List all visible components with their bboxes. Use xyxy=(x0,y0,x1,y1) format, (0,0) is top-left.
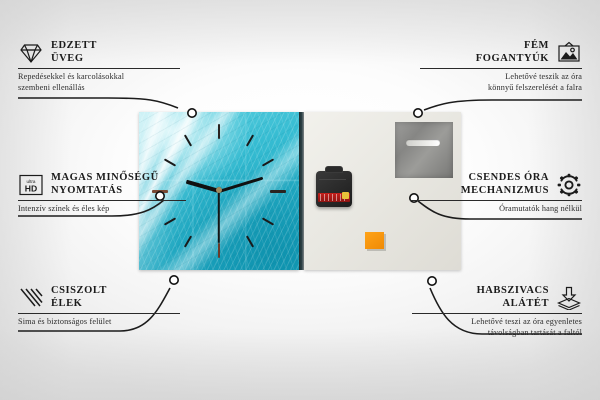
feature-magas-minosegu-nyomtatas[interactable]: ultra HD MAGAS MINŐSÉGŰNYOMTATÁS Intenzí… xyxy=(18,172,186,215)
feature-description: Óramutatók hang nélkül xyxy=(410,204,582,215)
clock-tick-3 xyxy=(270,190,286,193)
clock-center-cap xyxy=(216,187,222,193)
clock-second-hand xyxy=(218,191,220,243)
metal-hanger-plate xyxy=(395,122,453,178)
ultra-hd-icon: ultra HD xyxy=(18,173,44,197)
feature-description: Repedésekkel és karcolásokkalszembeni el… xyxy=(18,72,180,93)
foam-pad-icon xyxy=(556,286,582,310)
quartz-mechanism xyxy=(316,171,352,207)
feature-rule xyxy=(18,68,180,69)
feature-habszivacs-alatet[interactable]: HABSZIVACSALÁTÉT Lehetővé teszi az óra e… xyxy=(412,285,582,338)
feature-title: HABSZIVACSALÁTÉT xyxy=(477,285,549,310)
feature-description: Lehetővé teszik az órakönnyű felszerelés… xyxy=(420,72,582,93)
diamond-icon xyxy=(18,41,44,65)
wire-dot-bottom-left xyxy=(170,276,178,284)
feature-header: EDZETTÜVEG xyxy=(18,40,180,65)
feature-header: CSISZOLTÉLEK xyxy=(18,285,180,310)
feature-header: HABSZIVACSALÁTÉT xyxy=(412,285,582,310)
feature-description: Sima és biztonságos felület xyxy=(18,317,180,328)
infographic-canvas: EDZETTÜVEG Repedésekkel és karcolásokkal… xyxy=(0,0,600,400)
hanger-slot xyxy=(406,139,440,146)
feature-header: CSENDES ÓRAMECHANIZMUS xyxy=(410,172,582,197)
feature-rule xyxy=(410,200,582,201)
gear-icon xyxy=(556,173,582,197)
feature-csendes-ora-mechanizmus[interactable]: CSENDES ÓRAMECHANIZMUS xyxy=(410,172,582,215)
clock-tick-6 xyxy=(218,243,220,258)
feature-csiszolt-elek[interactable]: CSISZOLTÉLEK Sima és biztonságos felület xyxy=(18,285,180,328)
wire-top-right xyxy=(424,100,582,110)
feature-edzett-uveg[interactable]: EDZETTÜVEG Repedésekkel és karcolásokkal… xyxy=(18,40,180,93)
feature-rule xyxy=(18,313,180,314)
svg-text:HD: HD xyxy=(25,183,37,193)
mechanism-tab xyxy=(325,166,343,173)
feature-title: EDZETTÜVEG xyxy=(51,40,97,65)
mechanism-line xyxy=(319,179,346,180)
feature-description: Intenzív színek és éles kép xyxy=(18,204,186,215)
feature-header: FÉMFOGANTYÚK xyxy=(420,40,582,65)
feature-fem-fogantyuk[interactable]: FÉMFOGANTYÚK Lehetővé teszik az órakönny… xyxy=(420,40,582,93)
feature-rule xyxy=(412,313,582,314)
feature-title: CSISZOLTÉLEK xyxy=(51,285,107,310)
wire-dot-bottom-right xyxy=(428,277,436,285)
feature-description: Lehetővé teszi az óra egyenletestávolság… xyxy=(412,317,582,338)
feature-title: CSENDES ÓRAMECHANIZMUS xyxy=(461,172,549,197)
clock-tick-12 xyxy=(218,124,220,139)
feature-rule xyxy=(420,68,582,69)
sanded-edges-icon xyxy=(18,286,44,310)
feature-title: FÉMFOGANTYÚK xyxy=(476,40,549,65)
picture-hanger-icon xyxy=(556,41,582,65)
feature-rule xyxy=(18,200,186,201)
foam-spacer-pad xyxy=(365,232,384,249)
battery-plus-marker xyxy=(342,192,349,199)
feature-header: ultra HD MAGAS MINŐSÉGŰNYOMTATÁS xyxy=(18,172,186,197)
wire-top-left xyxy=(18,98,178,108)
feature-title: MAGAS MINŐSÉGŰNYOMTATÁS xyxy=(51,172,159,197)
